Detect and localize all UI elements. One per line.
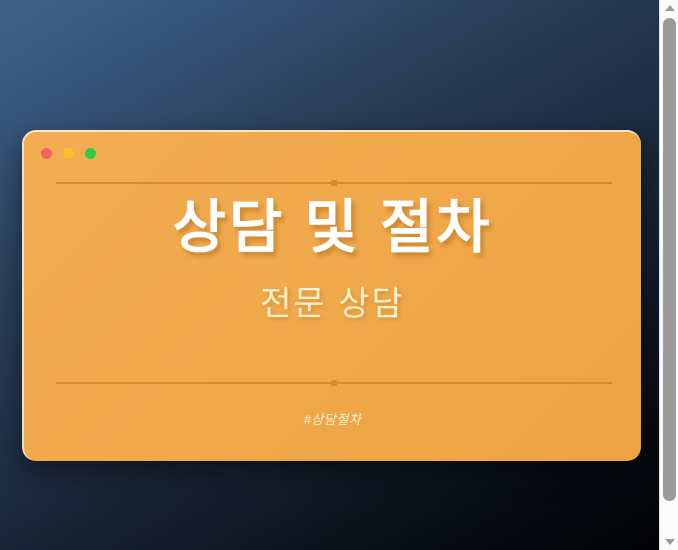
- hashtag-label: #상담절차: [24, 409, 641, 428]
- page-subtitle: 전문 상담: [24, 276, 641, 325]
- divider-top: [56, 182, 612, 184]
- minimize-button[interactable]: [63, 148, 74, 159]
- slide-card: 상담 및 절차 전문 상담 #상담절차: [22, 130, 641, 461]
- divider-bottom: [56, 382, 612, 384]
- divider-node-icon: [331, 180, 337, 186]
- scrollbar-thumb[interactable]: [663, 18, 676, 501]
- close-button[interactable]: [41, 148, 52, 159]
- slide-text-block: 상담 및 절차 전문 상담: [24, 194, 641, 325]
- vertical-scrollbar[interactable]: [659, 0, 678, 550]
- scroll-up-arrow-icon[interactable]: [660, 0, 678, 16]
- window-controls: [41, 148, 96, 159]
- page-title: 상담 및 절차: [24, 194, 641, 262]
- page-viewport: 상담 및 절차 전문 상담 #상담절차: [0, 0, 659, 550]
- chevron-down-icon: [665, 539, 675, 545]
- maximize-button[interactable]: [85, 148, 96, 159]
- chevron-up-icon: [665, 5, 675, 11]
- divider-node-icon: [331, 380, 337, 386]
- scroll-down-arrow-icon[interactable]: [660, 534, 678, 550]
